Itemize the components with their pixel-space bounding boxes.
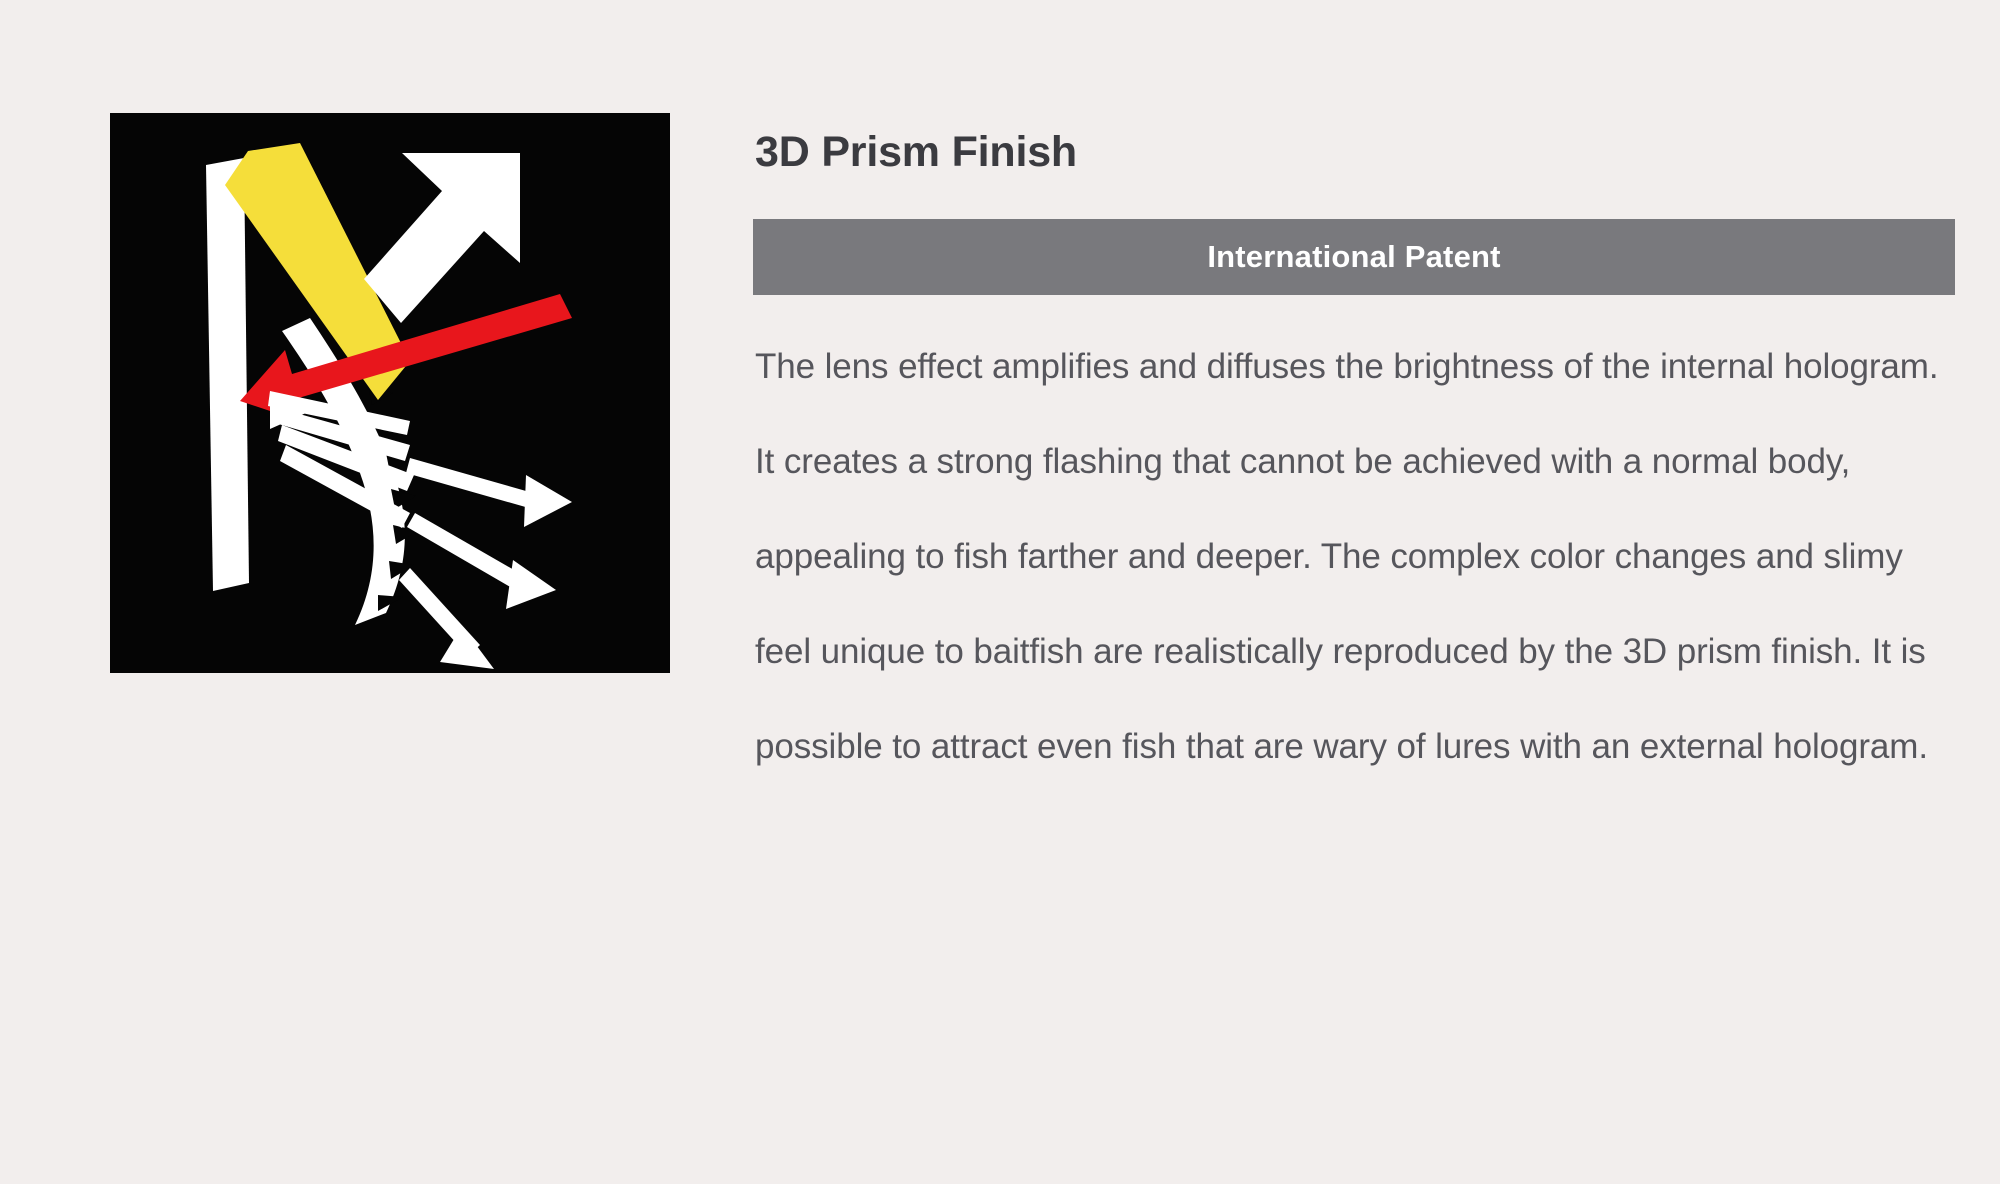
description-paragraph: The lens effect amplifies and diffuses t… (755, 319, 1960, 794)
description-text: The lens effect amplifies and diffuses t… (753, 319, 1960, 794)
international-patent-banner: International Patent (753, 219, 1955, 295)
content-column: 3D Prism Finish International Patent The… (753, 113, 1955, 794)
page-title: 3D Prism Finish (753, 113, 1955, 176)
prism-finish-diagram (110, 113, 670, 673)
patent-banner-label: International Patent (1207, 239, 1500, 275)
page-root: 3D Prism Finish International Patent The… (0, 0, 2000, 1184)
body-wall-shape (206, 158, 249, 591)
